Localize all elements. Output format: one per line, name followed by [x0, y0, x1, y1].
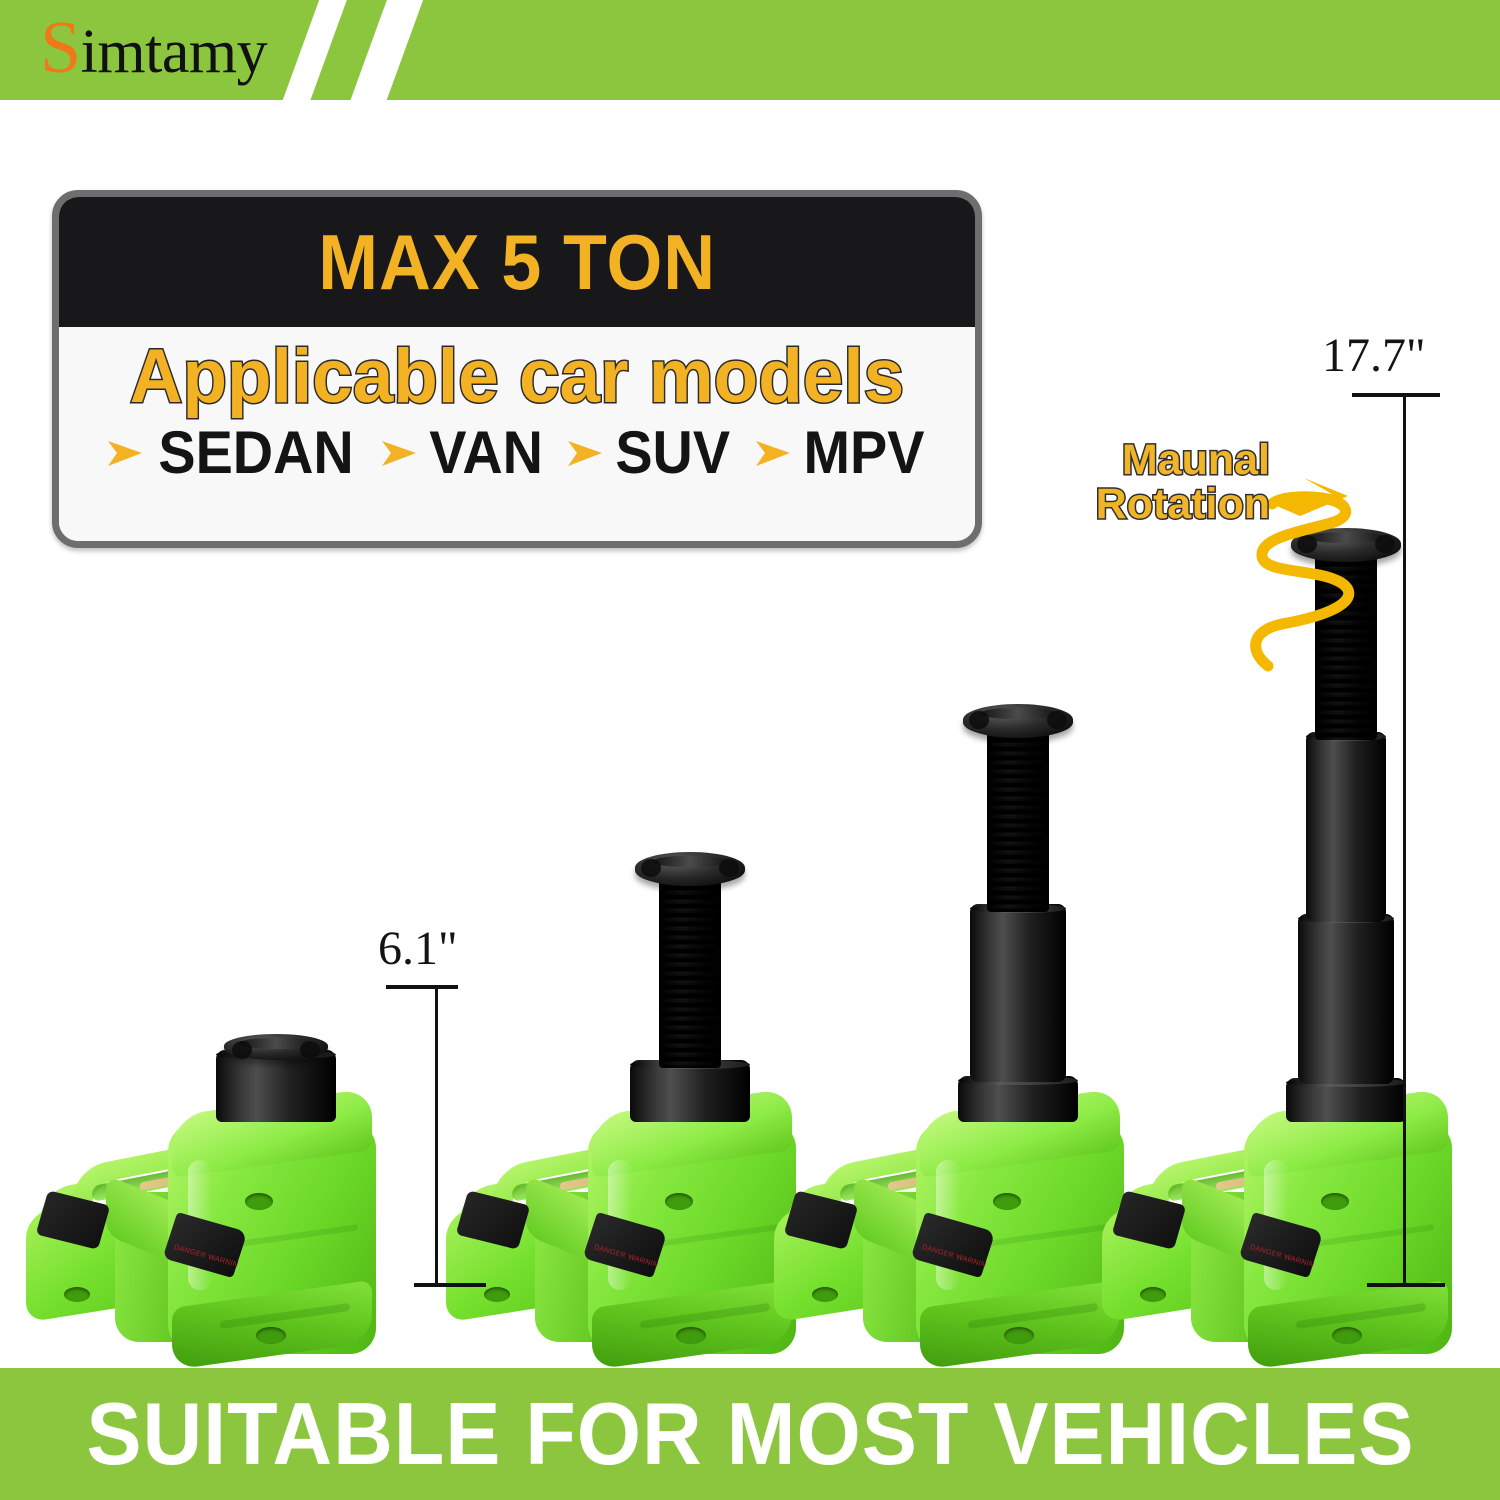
footer-tagline-banner: SUITABLE FOR MOST VEHICLES	[0, 1368, 1500, 1500]
screw-cap-lobe	[300, 1041, 320, 1059]
dimension-extended-label: 17.7"	[1322, 332, 1426, 380]
dimension-tick-bottom	[414, 1283, 486, 1287]
ram-stage-1	[630, 1060, 750, 1122]
brand-logo-rest: imtamy	[81, 18, 267, 86]
mounting-hole	[1332, 1327, 1362, 1344]
product-stage: DANGER WARNING	[0, 300, 1500, 1360]
dimension-tick-top	[1352, 393, 1440, 397]
screw-cap-lobe	[969, 711, 989, 729]
manual-rotation-line-2: Rotation	[1055, 482, 1270, 526]
ram-stage-1	[216, 1050, 336, 1122]
footer-tagline: SUITABLE FOR MOST VEHICLES	[86, 1388, 1414, 1480]
ram-stage-1	[1286, 1078, 1406, 1122]
mounting-hole	[676, 1327, 706, 1344]
screw-cap-icon[interactable]	[963, 704, 1073, 738]
screw-cap-lobe	[719, 859, 739, 877]
mounting-hole	[245, 1193, 273, 1210]
ram-stage-2	[1298, 914, 1394, 1084]
screw-cap-lobe	[1047, 711, 1067, 729]
mounting-hole	[993, 1193, 1021, 1210]
decorative-stripe-1	[268, 0, 357, 100]
brand-logo: Simtamy	[40, 6, 267, 94]
mounting-hole	[484, 1287, 510, 1302]
dimension-tick-top	[386, 985, 458, 989]
dimension-line	[1403, 393, 1406, 1285]
brand-logo-initial: S	[40, 7, 81, 89]
dimension-collapsed-label: 6.1"	[378, 925, 458, 973]
manual-rotation-line-1: Maunal	[1055, 438, 1270, 482]
ram-stage-2	[970, 904, 1066, 1082]
dimension-tick-bottom	[1367, 1283, 1445, 1287]
manual-rotation-callout: Maunal Rotation	[1055, 438, 1270, 526]
screw-cap-icon[interactable]	[635, 852, 745, 886]
mounting-hole	[256, 1327, 286, 1344]
dimension-line	[435, 985, 438, 1285]
mounting-hole	[812, 1287, 838, 1302]
mounting-hole	[665, 1193, 693, 1210]
screw-cap-lobe	[232, 1041, 252, 1059]
screw-cap-icon[interactable]	[224, 1034, 328, 1060]
decorative-stripe-2	[337, 0, 434, 100]
threaded-screw-shaft[interactable]	[987, 720, 1049, 912]
threaded-screw-shaft[interactable]	[659, 868, 721, 1068]
screw-cap-lobe	[641, 859, 661, 877]
ram-stage-1	[958, 1076, 1078, 1122]
product-infographic: Simtamy MAX 5 TON Applicable car models …	[0, 0, 1500, 1500]
mounting-hole	[1004, 1327, 1034, 1344]
mounting-hole	[1140, 1287, 1166, 1302]
max-capacity-label: MAX 5 TON	[318, 217, 716, 308]
screw-cap-notch	[653, 856, 727, 867]
screw-cap-lobe	[1375, 535, 1395, 553]
screw-cap-notch	[981, 708, 1055, 719]
brand-header-banner: Simtamy	[0, 0, 1500, 100]
mounting-hole	[1321, 1193, 1349, 1210]
mounting-hole	[64, 1287, 90, 1302]
ram-stage-3	[1306, 732, 1386, 922]
